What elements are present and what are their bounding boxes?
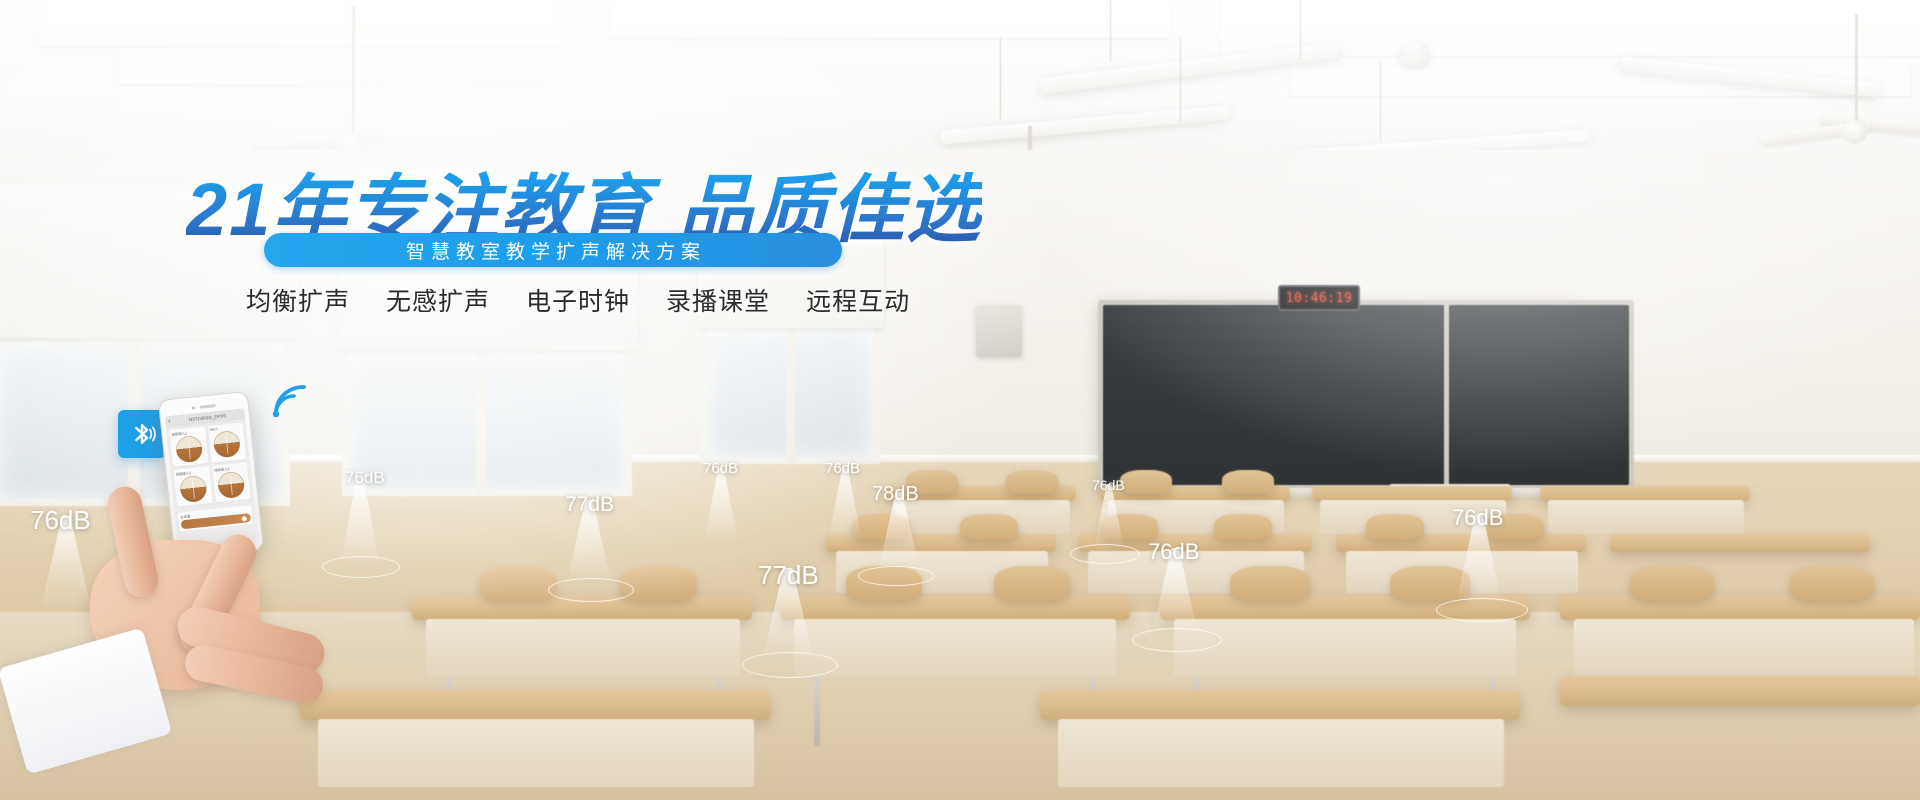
student-desk (1040, 690, 1520, 720)
chevron-left-icon[interactable]: ‹ (168, 418, 171, 425)
student-desk (412, 596, 752, 620)
master-volume-card[interactable]: 主音量 (178, 505, 254, 532)
desk-front-panel (1174, 619, 1516, 677)
smartphone[interactable]: ‹ NX7(380)D_2POS 线路输入1 MIC1 线路输入2 线路输入3 (158, 391, 264, 560)
ceiling-panel (40, 0, 560, 46)
window-mullion (476, 346, 486, 496)
ceiling-fan-hub (1842, 118, 1868, 144)
student-desk (1160, 596, 1530, 620)
student-chair (994, 566, 1070, 600)
feature-item: 电子时钟 (526, 282, 630, 318)
hanging-wire (1110, 0, 1111, 62)
student-chair (1790, 566, 1874, 600)
fan-rod (352, 6, 355, 134)
student-chair (1630, 566, 1714, 600)
student-chair (960, 514, 1018, 540)
blackboard-right-panel (1444, 300, 1634, 490)
db-reading: 76dB (1092, 477, 1125, 493)
student-desk (1560, 676, 1920, 706)
db-reading: 78dB (872, 483, 919, 506)
feature-item: 远程互动 (806, 282, 910, 318)
db-reading: 76dB (1452, 505, 1503, 531)
hanging-wire (1380, 60, 1381, 142)
subtitle-pill: 智慧教室教学扩声解决方案 (264, 233, 842, 267)
window-mullion (786, 318, 795, 464)
desk-front-panel (1548, 500, 1744, 534)
channel-card[interactable]: 线路输入2 (173, 466, 212, 507)
volume-knob[interactable] (213, 430, 242, 459)
student-desk (1540, 486, 1750, 501)
student-chair (1120, 470, 1172, 494)
student-desk (300, 690, 770, 720)
feature-item: 录播课堂 (666, 282, 770, 318)
volume-knob[interactable] (179, 475, 208, 504)
desk-leg (814, 676, 820, 746)
hanging-wire (1300, 0, 1301, 60)
student-desk (1312, 486, 1512, 501)
student-chair (852, 514, 910, 540)
student-chair (846, 566, 922, 600)
student-chair (1390, 566, 1470, 600)
channel-card[interactable]: 线路输入1 (169, 426, 208, 467)
channel-card[interactable]: 线路输入3 (212, 462, 251, 503)
window (342, 346, 632, 496)
feature-item: 无感扩声 (386, 282, 490, 318)
front-camera-icon (192, 406, 195, 409)
db-reading: 76dB (1148, 539, 1199, 565)
feature-list: 均衡扩声 无感扩声 电子时钟 录播课堂 远程互动 (246, 282, 910, 318)
db-reading: 76dB (30, 505, 91, 536)
hanging-wire (1000, 38, 1001, 120)
desk-front-panel (426, 619, 740, 677)
volume-knob[interactable] (217, 471, 246, 500)
channel-card[interactable]: MIC1 (207, 422, 246, 463)
clock-time: 10:46:19 (1286, 291, 1353, 306)
student-desk (1560, 596, 1920, 620)
hanging-wire (1180, 38, 1181, 122)
wifi-signal-icon (268, 378, 314, 418)
db-reading: 77dB (565, 493, 614, 517)
ceiling-panel (610, 0, 1170, 38)
student-chair (1100, 514, 1158, 540)
app-control-grid: 线路输入1 MIC1 线路输入2 线路输入3 (166, 419, 254, 510)
desk-front-panel (1058, 719, 1504, 787)
desk-front-panel (1574, 619, 1914, 677)
student-desk (1610, 534, 1870, 552)
student-chair (1214, 514, 1272, 540)
student-chair (1230, 566, 1310, 600)
desk-front-panel (318, 719, 754, 787)
student-chair (620, 566, 696, 600)
earpiece-speaker (200, 404, 216, 408)
ceiling-dome-speaker (1400, 40, 1430, 66)
volume-knob[interactable] (175, 435, 204, 464)
db-reading: 76dB (703, 460, 738, 477)
subtitle-text: 智慧教室教学扩声解决方案 (400, 237, 706, 264)
promo-banner: 10:46:19 (0, 0, 1920, 800)
digital-clock: 10:46:19 (1278, 285, 1360, 311)
student-chair (480, 566, 556, 600)
feature-item: 均衡扩声 (246, 282, 350, 318)
student-desk (780, 596, 1130, 620)
student-chair (1222, 470, 1274, 494)
ceiling-panel (120, 54, 540, 84)
wall-control-box (976, 305, 1022, 357)
db-reading: 76dB (345, 468, 385, 488)
student-chair (1366, 514, 1424, 540)
db-reading: 76dB (825, 460, 860, 477)
db-reading: 77dB (758, 560, 819, 591)
desk-front-panel (794, 619, 1116, 677)
phone-screen[interactable]: ‹ NX7(380)D_2POS 线路输入1 MIC1 线路输入2 线路输入3 (165, 408, 259, 550)
student-chair (1006, 470, 1058, 494)
fan-rod (1855, 14, 1858, 120)
